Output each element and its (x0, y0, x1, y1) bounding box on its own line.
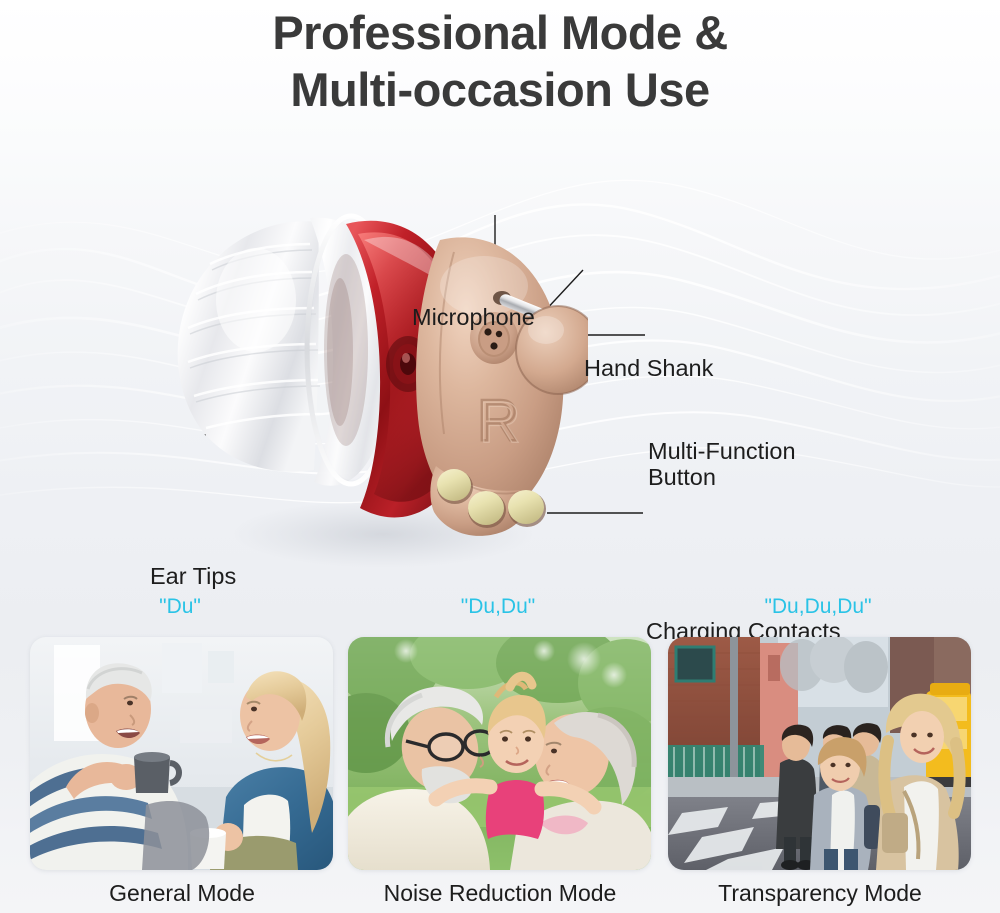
svg-text:R: R (479, 390, 521, 455)
hearing-aid-device-illustration: R R (168, 182, 588, 582)
callout-multi-function-button-line-2: Button (648, 464, 878, 490)
mode-caption-noise-reduction: Noise Reduction Mode (340, 878, 660, 908)
mode-photo-transparency (668, 637, 971, 870)
title-line-2: Multi-occasion Use (0, 61, 1000, 118)
modes-section: "Du" "Du,Du" "Du,Du,Du" (0, 560, 1000, 913)
product-infographic: Professional Mode & Multi-occasion Use (0, 0, 1000, 913)
hero-product-diagram: R R Microphone Hand Shank Multi-Function… (0, 120, 1000, 560)
title-line-1: Professional Mode & (0, 4, 1000, 61)
page-title: Professional Mode & Multi-occasion Use (0, 4, 1000, 118)
channel-marking-r: R R (477, 388, 521, 455)
mode-beep-general: "Du" (30, 594, 330, 620)
mode-caption-row: General Mode Noise Reduction Mode Transp… (0, 878, 1000, 912)
callout-multi-function-button-line-1: Multi-Function (648, 438, 878, 464)
callout-multi-function-button: Multi-Function Button (648, 438, 878, 490)
callout-hand-shank: Hand Shank (584, 355, 713, 382)
mode-photo-general (30, 637, 333, 870)
mode-beep-transparency: "Du,Du,Du" (668, 594, 968, 620)
mode-caption-transparency: Transparency Mode (660, 878, 980, 908)
mode-beep-row: "Du" "Du,Du" "Du,Du,Du" (0, 594, 1000, 622)
mode-caption-general: General Mode (22, 878, 342, 908)
mode-photo-noise-reduction (348, 637, 651, 870)
callout-microphone: Microphone (412, 304, 535, 331)
mode-beep-noise-reduction: "Du,Du" (348, 594, 648, 620)
